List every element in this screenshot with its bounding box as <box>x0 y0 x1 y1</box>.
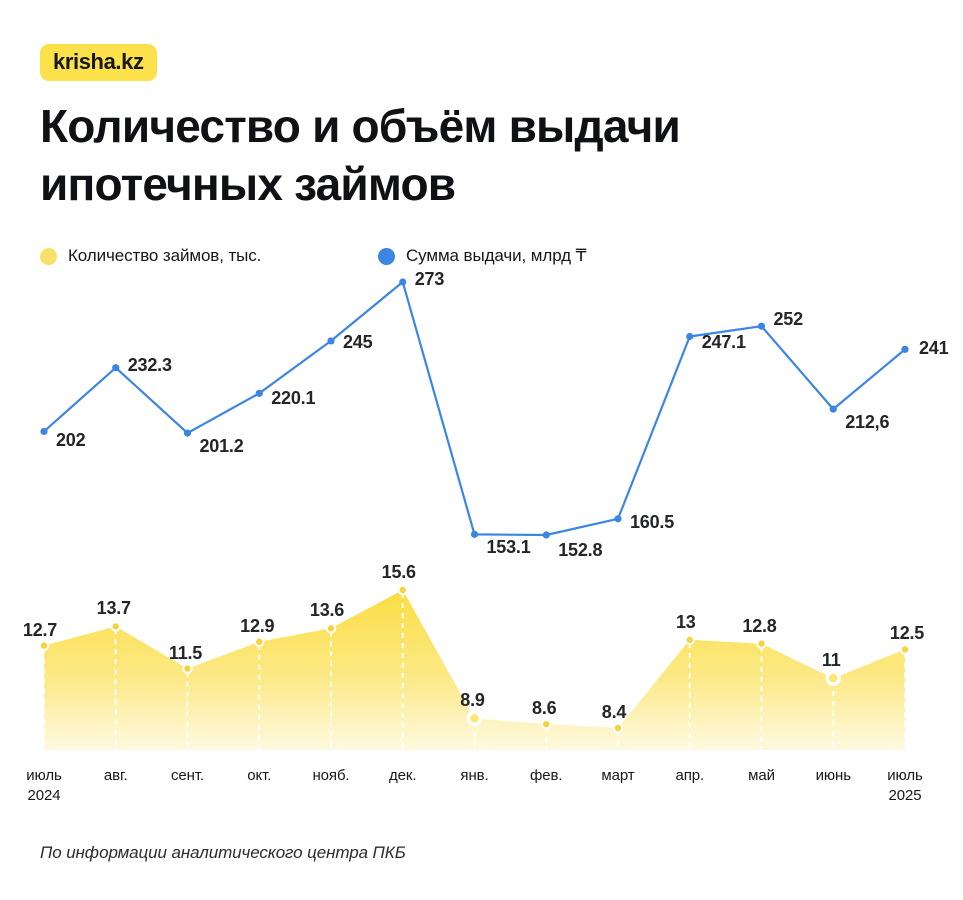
x-axis-tick-month: март <box>601 767 634 784</box>
data-point-label: 273 <box>415 269 444 290</box>
data-point-label: 12.9 <box>240 616 274 637</box>
infographic-root: krisha.kz Количество и объём выдачи ипот… <box>0 0 963 900</box>
x-axis-tick: окт. <box>247 766 271 786</box>
data-point-label: 8.4 <box>602 702 626 723</box>
data-point-label: 153.1 <box>487 537 531 558</box>
x-axis-tick-month: сент. <box>171 767 204 784</box>
x-axis-tick-month: июль <box>887 767 922 784</box>
data-point-label: 12.8 <box>742 616 776 637</box>
data-point-label: 247.1 <box>702 332 746 353</box>
data-point-label: 12.7 <box>23 620 57 641</box>
data-point-label: 241 <box>919 338 948 359</box>
data-point-label: 201.2 <box>200 436 244 457</box>
data-point-label: 212,6 <box>845 412 889 433</box>
x-axis-tick: дек. <box>389 766 416 786</box>
x-axis-tick-month: авг. <box>104 767 128 784</box>
x-axis-tick: нояб. <box>312 766 349 786</box>
data-point-label: 13.7 <box>97 598 131 619</box>
source-note: По информации аналитического центра ПКБ <box>40 843 406 863</box>
x-axis-tick-month: фев. <box>530 767 562 784</box>
data-point-label: 220.1 <box>271 388 315 409</box>
x-axis-tick-year: 2025 <box>887 786 922 806</box>
x-axis-tick-month: июль <box>26 767 61 784</box>
x-axis-tick: апр. <box>675 766 704 786</box>
data-point-label: 11.5 <box>169 643 202 664</box>
data-point-label: 13.6 <box>310 600 344 621</box>
x-axis-tick-month: апр. <box>675 767 704 784</box>
data-point-label: 232.3 <box>128 355 172 376</box>
data-point-label: 202 <box>56 430 85 451</box>
x-axis-tick-month: янв. <box>460 767 488 784</box>
x-axis-tick: март <box>601 766 634 786</box>
x-axis-tick: сент. <box>171 766 204 786</box>
data-point-label: 13 <box>676 612 696 633</box>
x-axis-tick-month: дек. <box>389 767 416 784</box>
x-axis-tick-month: июнь <box>816 767 851 784</box>
data-point-label: 252 <box>774 309 803 330</box>
data-point-label: 8.6 <box>532 698 556 719</box>
data-point-label: 12.5 <box>890 623 924 644</box>
x-axis-tick: фев. <box>530 766 562 786</box>
x-axis-tick-year: 2024 <box>26 786 61 806</box>
x-axis-tick: июль2025 <box>887 766 922 807</box>
x-axis-tick: июль2024 <box>26 766 61 807</box>
x-axis-tick-labels: июль2024авг.сент.окт.нояб.дек.янв.фев.ма… <box>0 766 963 816</box>
x-axis-tick: май <box>748 766 775 786</box>
x-axis-tick: янв. <box>460 766 488 786</box>
x-axis-tick-month: май <box>748 767 775 784</box>
x-axis-tick: июнь <box>816 766 851 786</box>
data-point-label: 11 <box>822 650 841 671</box>
x-axis-tick-month: окт. <box>247 767 271 784</box>
data-point-label: 245 <box>343 332 372 353</box>
data-point-label: 152.8 <box>558 540 602 561</box>
data-point-label: 160.5 <box>630 512 674 533</box>
data-point-label: 15.6 <box>382 562 416 583</box>
x-axis-tick: авг. <box>104 766 128 786</box>
chart-svg <box>0 0 963 900</box>
data-point-label: 8.9 <box>460 690 484 711</box>
x-axis-tick-month: нояб. <box>312 767 349 784</box>
chart-plot-area: 202232.3201.2220.1245273153.1152.8160.52… <box>0 0 963 900</box>
